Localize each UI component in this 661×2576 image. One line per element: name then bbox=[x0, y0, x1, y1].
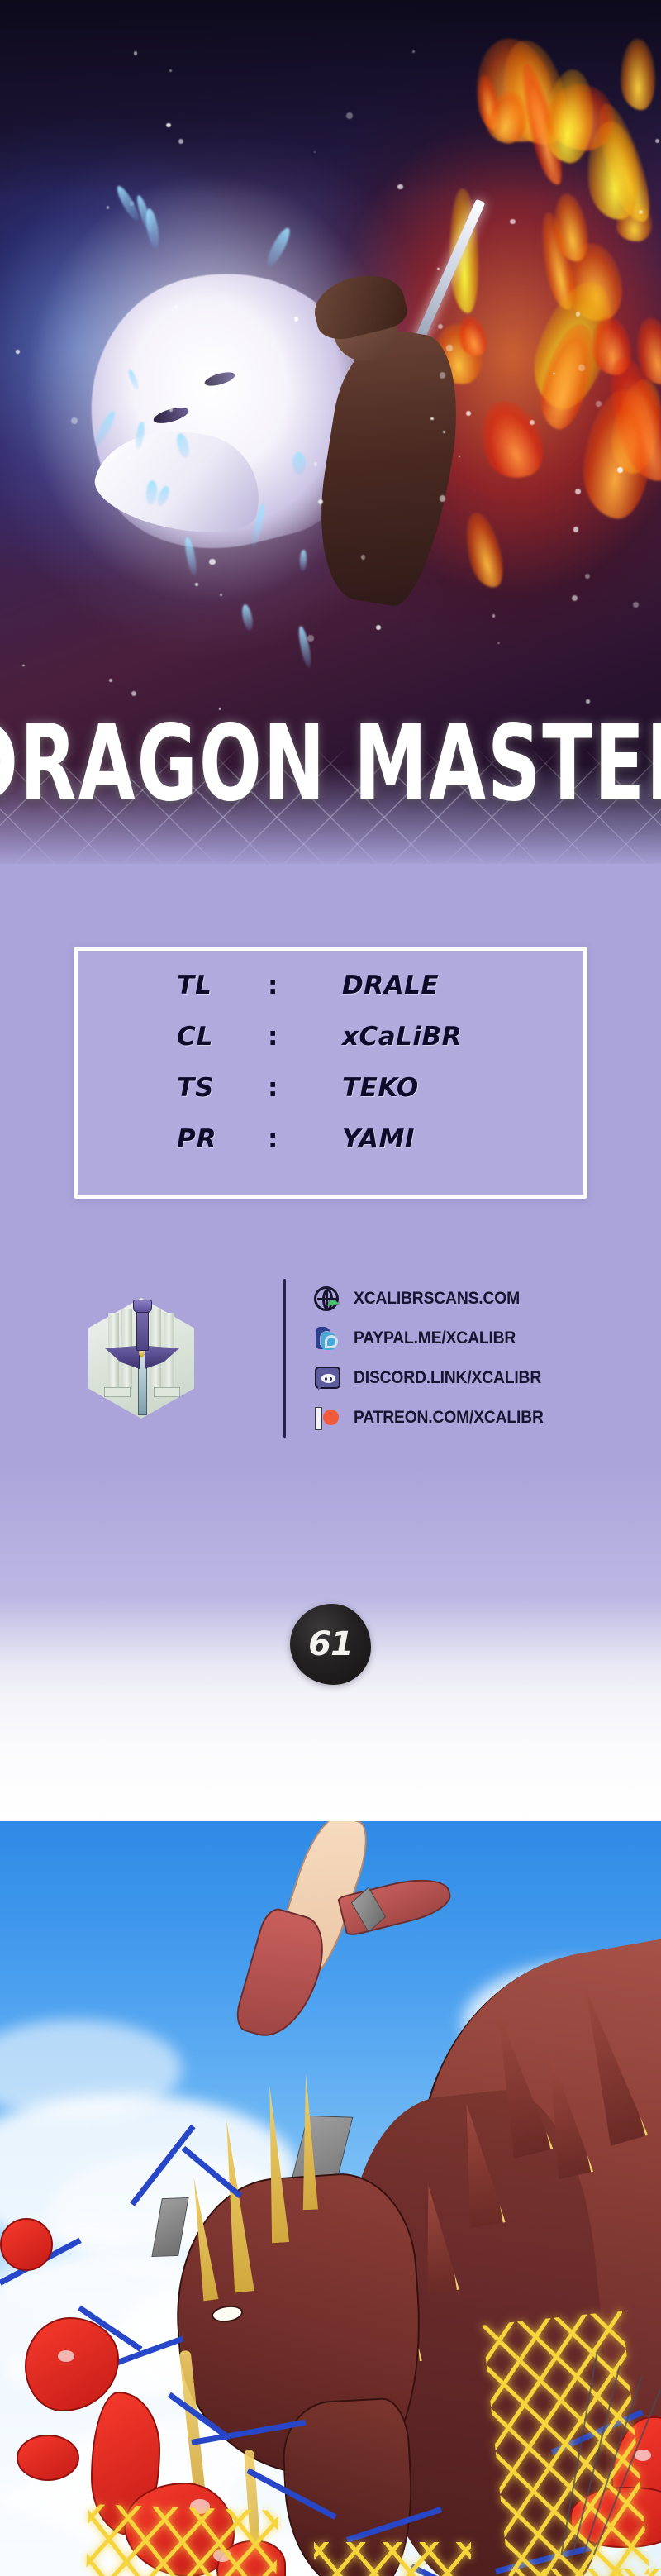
scanlation-links-block: XCALIBRSCANS.COM PAYPAL.ME/XCALIBR bbox=[74, 1263, 587, 1453]
discord-bubble-tail bbox=[318, 1383, 326, 1391]
credit-role: TS bbox=[177, 1073, 268, 1103]
sparkle bbox=[573, 527, 579, 532]
paypal-icon bbox=[314, 1326, 339, 1351]
sparkle bbox=[438, 324, 443, 329]
xcalibr-logo bbox=[88, 1298, 194, 1419]
credit-role: CL bbox=[177, 1022, 268, 1052]
sparkle bbox=[596, 401, 601, 406]
sparkle bbox=[16, 350, 20, 354]
ice-crystal bbox=[292, 451, 306, 475]
character-boot bbox=[231, 1905, 333, 2046]
sparkle bbox=[437, 268, 439, 270]
link-label-website: XCALIBRSCANS.COM bbox=[354, 1289, 520, 1309]
sparkle bbox=[294, 317, 299, 322]
sparkle bbox=[109, 679, 112, 682]
sparkle bbox=[397, 184, 402, 189]
globe-icon bbox=[314, 1286, 339, 1311]
sparkle bbox=[617, 467, 623, 473]
credit-name: DRALE bbox=[342, 971, 439, 1000]
sparkle bbox=[71, 417, 78, 424]
panel-gutter bbox=[0, 1699, 661, 1821]
flame bbox=[459, 509, 509, 592]
link-label-paypal: PAYPAL.ME/XCALIBR bbox=[354, 1329, 516, 1348]
ice-crystal bbox=[297, 626, 313, 669]
chapter-badge: 61 bbox=[290, 1604, 371, 1685]
credits-table: TL : DRALE CL : xCaLiBR TS : TEKO PR : Y… bbox=[78, 951, 583, 1195]
credit-separator: : bbox=[268, 1124, 342, 1154]
credit-row: TS : TEKO bbox=[177, 1073, 583, 1124]
ice-crystal bbox=[240, 603, 254, 631]
sparkle bbox=[492, 614, 495, 617]
sparkle bbox=[585, 574, 590, 579]
energy-net bbox=[483, 2311, 650, 2576]
cover-fade-overlay bbox=[0, 765, 661, 864]
sparkle bbox=[209, 402, 213, 406]
sparkle bbox=[131, 691, 136, 696]
blood-highlight bbox=[58, 2350, 74, 2362]
credit-role: PR bbox=[177, 1124, 268, 1154]
flame bbox=[470, 393, 552, 487]
sparkle bbox=[361, 555, 366, 560]
sparkle bbox=[307, 635, 314, 642]
sparkle bbox=[346, 112, 353, 119]
comic-panel-2 bbox=[0, 1821, 661, 2576]
sparkle bbox=[446, 345, 453, 351]
credit-role: TL bbox=[177, 971, 268, 1000]
cover-artwork bbox=[0, 0, 661, 864]
link-row-paypal[interactable]: PAYPAL.ME/XCALIBR bbox=[314, 1324, 560, 1352]
link-row-discord[interactable]: DISCORD.LINK/XCALIBR bbox=[314, 1364, 560, 1392]
webtoon-page: DRAGON MASTER TL : DRALE CL : xCaLiBR TS… bbox=[0, 0, 661, 2576]
credit-name: TEKO bbox=[342, 1073, 419, 1103]
sparkle bbox=[314, 462, 318, 466]
credit-name: YAMI bbox=[342, 1124, 415, 1154]
patreon-circle bbox=[323, 1410, 339, 1425]
sparkle bbox=[586, 699, 589, 703]
sparkle bbox=[510, 219, 515, 224]
blood-splatter bbox=[17, 2435, 79, 2481]
credit-name: xCaLiBR bbox=[342, 1022, 462, 1052]
sparkle bbox=[22, 665, 25, 667]
sparkle bbox=[220, 594, 222, 596]
discord-icon bbox=[314, 1366, 339, 1391]
link-list: XCALIBRSCANS.COM PAYPAL.ME/XCALIBR bbox=[314, 1285, 560, 1432]
sparkle bbox=[376, 625, 381, 630]
sparkle bbox=[440, 372, 445, 378]
credit-separator: : bbox=[268, 1022, 342, 1052]
sparkle bbox=[209, 559, 215, 565]
master-sword-grip bbox=[136, 1306, 149, 1351]
sparkle bbox=[134, 51, 137, 55]
credit-separator: : bbox=[268, 1073, 342, 1103]
credit-row: CL : xCaLiBR bbox=[177, 1022, 583, 1073]
discord-eye-left bbox=[325, 1377, 327, 1381]
link-row-website[interactable]: XCALIBRSCANS.COM bbox=[314, 1285, 560, 1313]
logo-pillar-base bbox=[104, 1387, 131, 1397]
sparkle bbox=[497, 642, 500, 645]
sparkle bbox=[572, 595, 578, 601]
vertical-divider bbox=[283, 1279, 286, 1438]
sparkle bbox=[178, 139, 183, 144]
flame bbox=[620, 38, 655, 110]
credit-row: TL : DRALE bbox=[177, 971, 583, 1022]
link-label-patreon: PATREON.COM/XCALIBR bbox=[354, 1408, 544, 1428]
link-row-patreon[interactable]: PATREON.COM/XCALIBR bbox=[314, 1404, 560, 1432]
fire-wing bbox=[430, 0, 661, 628]
sparkle bbox=[655, 139, 659, 143]
blood-splatter bbox=[0, 2218, 53, 2271]
patreon-bar bbox=[315, 1407, 322, 1430]
sparkle bbox=[107, 206, 109, 208]
discord-eye-right bbox=[330, 1377, 332, 1381]
logo-pillar-base bbox=[154, 1387, 180, 1397]
sparkle bbox=[578, 365, 585, 371]
sparkle bbox=[169, 408, 173, 412]
paypal-front-shape bbox=[321, 1332, 335, 1350]
credit-row: PR : YAMI bbox=[177, 1124, 583, 1176]
sparkle bbox=[412, 50, 414, 52]
chapter-number: 61 bbox=[290, 1604, 371, 1685]
patreon-icon bbox=[314, 1405, 339, 1430]
credits-box: TL : DRALE CL : xCaLiBR TS : TEKO PR : Y… bbox=[74, 947, 587, 1199]
sparkle bbox=[633, 602, 639, 608]
sparkle bbox=[166, 123, 170, 127]
link-label-discord: DISCORD.LINK/XCALIBR bbox=[354, 1368, 541, 1388]
credit-separator: : bbox=[268, 971, 342, 1000]
master-sword-pommel bbox=[133, 1300, 152, 1313]
discord-face bbox=[321, 1374, 335, 1383]
energy-net bbox=[512, 2569, 661, 2576]
energy-net bbox=[85, 2504, 278, 2576]
sparkle bbox=[195, 583, 198, 586]
sparkle bbox=[575, 489, 581, 494]
energy-net bbox=[314, 2542, 471, 2576]
sparkle bbox=[430, 417, 433, 420]
sparkle bbox=[219, 708, 221, 710]
sparkle bbox=[318, 499, 323, 504]
